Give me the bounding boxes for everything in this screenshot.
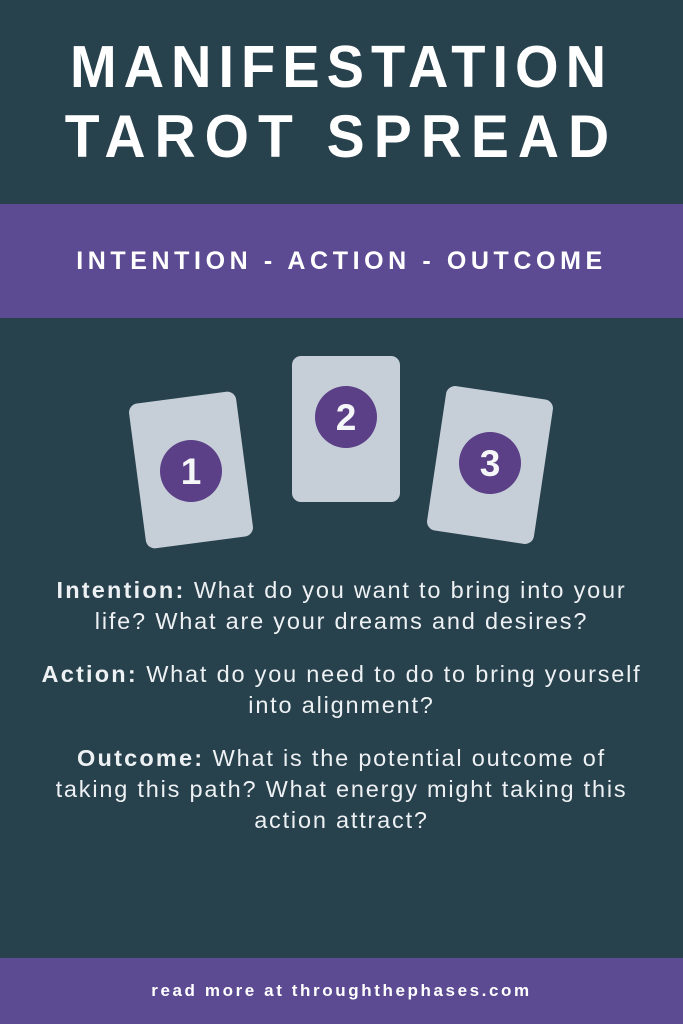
header-section: MANIFESTATION TAROT SPREAD xyxy=(0,0,683,204)
tarot-card-1: 1 xyxy=(128,391,254,550)
subtitle-band: INTENTION - ACTION - OUTCOME xyxy=(0,204,683,318)
card-number-badge-3: 3 xyxy=(459,432,521,494)
paragraph-label-intention: Intention: xyxy=(56,577,185,603)
paragraph-intention: Intention: What do you want to bring int… xyxy=(38,575,645,637)
paragraph-body-action: What do you need to do to bring yourself… xyxy=(138,661,642,718)
paragraph-label-outcome: Outcome: xyxy=(77,745,204,771)
paragraph-action: Action: What do you need to do to bring … xyxy=(38,659,645,721)
tarot-card-group: 1 2 3 xyxy=(0,318,683,568)
description-block: Intention: What do you want to bring int… xyxy=(38,575,645,836)
paragraph-outcome: Outcome: What is the potential outcome o… xyxy=(38,743,645,836)
footer-band: read more at throughthephases.com xyxy=(0,958,683,1024)
paragraph-label-action: Action: xyxy=(42,661,138,687)
card-number-badge-2: 2 xyxy=(315,386,377,448)
page-title-line-1: MANIFESTATION xyxy=(70,30,613,104)
subtitle-text: INTENTION - ACTION - OUTCOME xyxy=(76,247,607,276)
tarot-card-2: 2 xyxy=(292,356,400,502)
tarot-card-3: 3 xyxy=(426,385,554,545)
footer-website-link[interactable]: read more at throughthephases.com xyxy=(151,981,532,1001)
page-title-line-2: TAROT SPREAD xyxy=(65,100,618,174)
card-number-badge-1: 1 xyxy=(160,440,222,502)
infographic-poster: MANIFESTATION TAROT SPREAD INTENTION - A… xyxy=(0,0,683,1024)
